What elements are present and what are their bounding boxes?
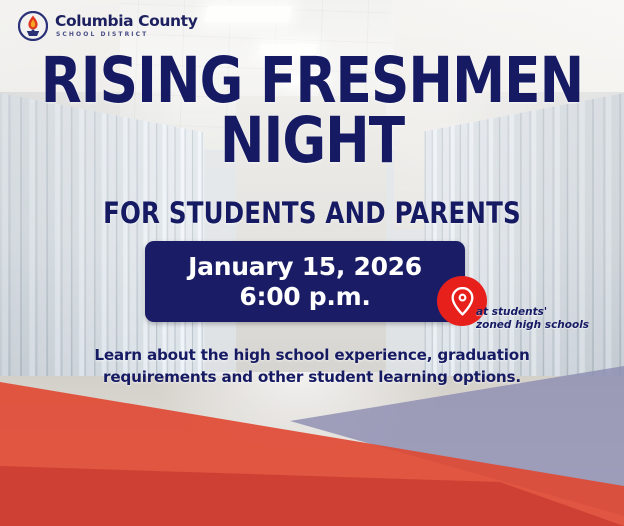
event-date-box: January 15, 2026 6:00 p.m. (145, 241, 465, 322)
location-line-2: zoned high schools (476, 319, 589, 332)
description-text: Learn about the high school experience, … (62, 345, 562, 388)
headline-line-2: NIGHT (19, 114, 606, 168)
subheadline: FOR STUDENTS AND PARENTS (19, 196, 606, 230)
event-flyer: Columbia County SCHOOL DISTRICT RISING F… (0, 0, 624, 526)
logo-district-name: Columbia County (55, 14, 197, 30)
description-line-2: requirements and other student learning … (62, 367, 562, 389)
description-line-1: Learn about the high school experience, … (62, 345, 562, 367)
logo-district-subtitle: SCHOOL DISTRICT (56, 32, 197, 38)
flame-torch-icon (18, 11, 48, 41)
event-date: January 15, 2026 (188, 252, 422, 282)
location-note: at students' zoned high schools (476, 306, 589, 332)
district-logo: Columbia County SCHOOL DISTRICT (18, 11, 197, 41)
event-time: 6:00 p.m. (239, 282, 370, 312)
headline-line-1: RISING FRESHMEN (19, 54, 606, 108)
location-line-1: at students' (476, 306, 589, 319)
decorative-shapes (0, 366, 624, 526)
page-title: RISING FRESHMEN NIGHT (0, 54, 624, 168)
